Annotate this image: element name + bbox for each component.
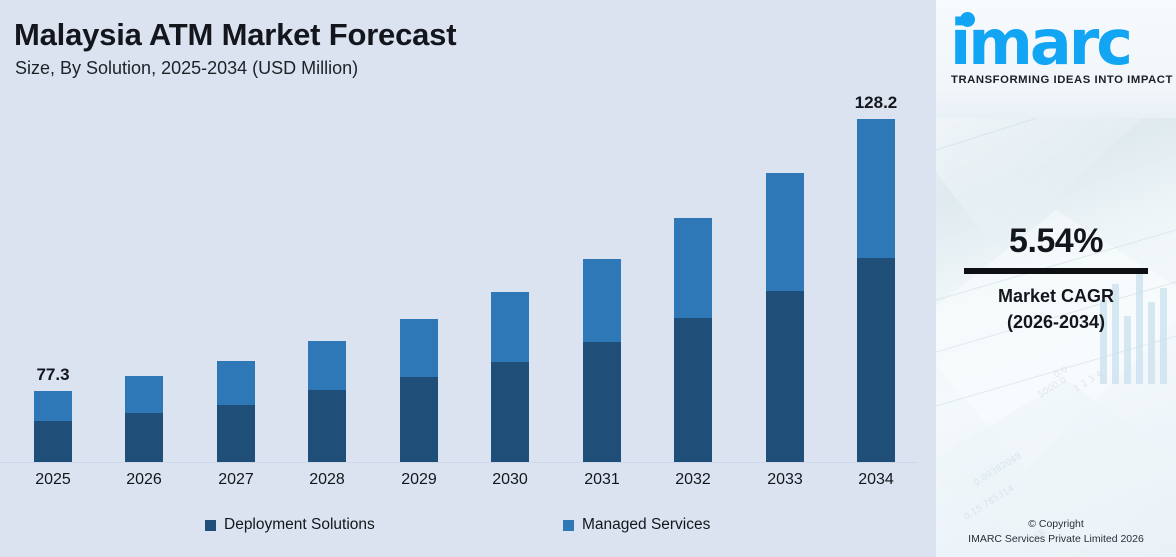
cagr-value: 5.54% xyxy=(936,222,1176,261)
bar-segment-deployment-solutions xyxy=(766,291,804,462)
bar-segment-managed-services xyxy=(674,218,712,318)
bar-segment-deployment-solutions xyxy=(217,405,255,462)
bar-2031 xyxy=(583,259,621,462)
bar-2032 xyxy=(674,218,712,462)
bar-segment-managed-services xyxy=(491,292,529,362)
bar-2025: 77.3 xyxy=(34,391,72,462)
copyright-notice: © Copyright IMARC Services Private Limit… xyxy=(936,517,1176,549)
chart-legend: Deployment SolutionsManaged Services xyxy=(0,516,936,546)
x-tick-2031: 2031 xyxy=(557,471,647,489)
bar-segment-managed-services xyxy=(583,259,621,342)
x-tick-2033: 2033 xyxy=(740,471,830,489)
x-axis-line xyxy=(0,462,918,463)
bar-segment-deployment-solutions xyxy=(34,421,72,462)
bar-segment-deployment-solutions xyxy=(491,362,529,462)
bar-value-label-2034: 128.2 xyxy=(816,93,936,113)
x-tick-2030: 2030 xyxy=(465,471,555,489)
bar-2029 xyxy=(400,319,438,462)
legend-swatch-icon xyxy=(205,520,216,531)
logo-dot-icon xyxy=(960,12,975,27)
bar-2034: 128.2 xyxy=(857,119,895,462)
bar-segment-deployment-solutions xyxy=(674,318,712,462)
imarc-logo: imarc TRANSFORMING IDEAS INTO IMPACT xyxy=(948,14,1164,86)
x-tick-2034: 2034 xyxy=(831,471,921,489)
x-tick-2027: 2027 xyxy=(191,471,281,489)
bar-2026 xyxy=(125,376,163,462)
bar-segment-managed-services xyxy=(34,391,72,421)
legend-label: Deployment Solutions xyxy=(224,516,375,534)
bar-2028 xyxy=(308,341,346,462)
x-axis-labels: 2025202620272028202920302031203220332034 xyxy=(0,466,936,496)
plot-area: 77.3128.2 xyxy=(0,0,936,462)
bar-segment-managed-services xyxy=(400,319,438,377)
bar-segment-deployment-solutions xyxy=(583,342,621,462)
cagr-divider xyxy=(964,268,1148,274)
bar-segment-managed-services xyxy=(766,173,804,291)
copyright-line-2: IMARC Services Private Limited 2026 xyxy=(936,532,1176,548)
bar-segment-deployment-solutions xyxy=(400,377,438,462)
bar-2027 xyxy=(217,361,255,462)
legend-item-deployment-solutions[interactable]: Deployment Solutions xyxy=(205,516,375,534)
x-tick-2032: 2032 xyxy=(648,471,738,489)
x-tick-2029: 2029 xyxy=(374,471,464,489)
bar-segment-managed-services xyxy=(125,376,163,413)
x-tick-2026: 2026 xyxy=(99,471,189,489)
legend-item-managed-services[interactable]: Managed Services xyxy=(563,516,710,534)
chart-screenshot: Malaysia ATM Market Forecast Size, By So… xyxy=(0,0,1176,557)
legend-label: Managed Services xyxy=(582,516,710,534)
bar-value-label-2025: 77.3 xyxy=(0,365,113,385)
bar-segment-deployment-solutions xyxy=(125,413,163,462)
cagr-label-line2: (2026-2034) xyxy=(936,309,1176,335)
bar-segment-deployment-solutions xyxy=(308,390,346,462)
bar-2030 xyxy=(491,292,529,462)
x-tick-2025: 2025 xyxy=(8,471,98,489)
bar-segment-deployment-solutions xyxy=(857,258,895,462)
x-tick-2028: 2028 xyxy=(282,471,372,489)
logo-wordmark: imarc xyxy=(950,14,1166,73)
cagr-block: 5.54% Market CAGR (2026-2034) xyxy=(936,222,1176,335)
bar-segment-managed-services xyxy=(308,341,346,390)
cagr-label-line1: Market CAGR xyxy=(936,283,1176,309)
bar-segment-managed-services xyxy=(217,361,255,405)
copyright-line-1: © Copyright xyxy=(936,517,1176,533)
bar-segment-managed-services xyxy=(857,119,895,258)
legend-swatch-icon xyxy=(563,520,574,531)
bar-2033 xyxy=(766,173,804,462)
brand-panel: 5000.0 0.0 1 2 3 4 0.09382048 0.15 78531… xyxy=(936,0,1176,557)
chart-panel: Malaysia ATM Market Forecast Size, By So… xyxy=(0,0,936,557)
